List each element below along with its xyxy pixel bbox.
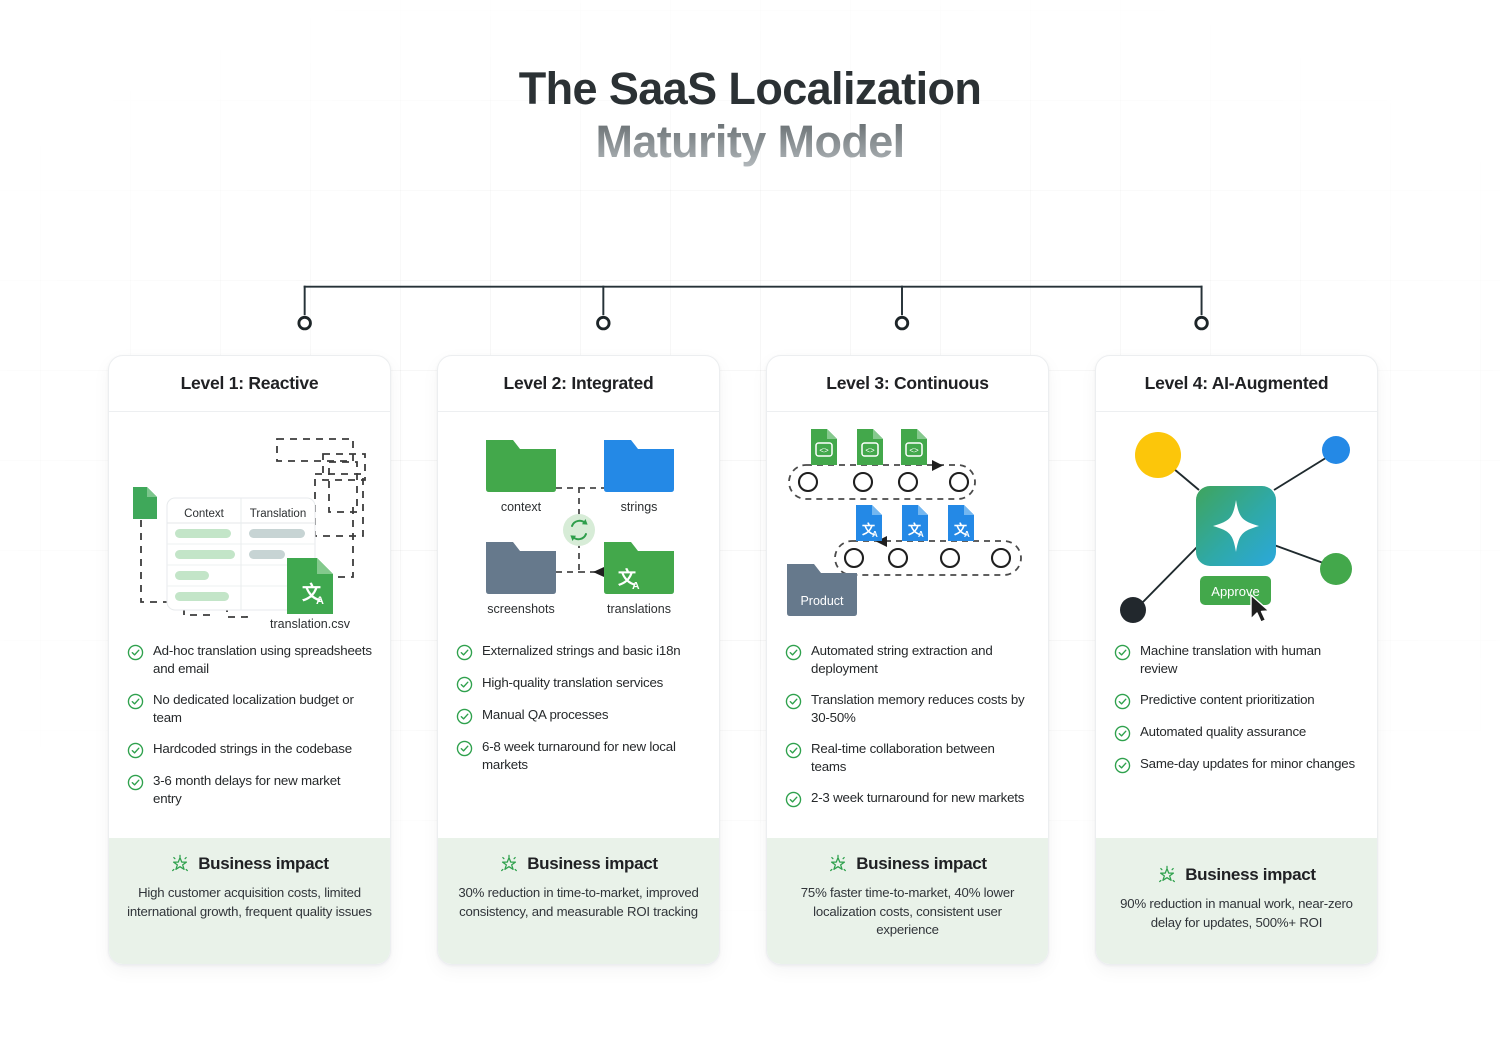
check-circle-icon [1114, 725, 1131, 742]
check-circle-icon [456, 740, 473, 757]
check-circle-icon [1114, 757, 1131, 774]
sync-icon [563, 514, 595, 546]
list-item-label: Automated string extraction and deployme… [811, 642, 1030, 678]
list-item-label: Predictive content prioritization [1140, 691, 1314, 709]
svg-text:Translation: Translation [250, 508, 306, 520]
card-level-2-bullets: Externalized strings and basic i18n High… [438, 638, 719, 838]
list-item: Same-day updates for minor changes [1114, 755, 1359, 774]
list-item-label: Machine translation with human review [1140, 642, 1359, 678]
translation-csv-file-icon: 文 A [287, 558, 333, 614]
svg-text:A: A [872, 530, 878, 539]
card-level-4-bullets: Machine translation with human review Pr… [1096, 638, 1377, 838]
business-impact-body: 30% reduction in time-to-market, improve… [454, 884, 703, 921]
page-title-line-1: The SaaS Localization [0, 62, 1500, 115]
card-level-4[interactable]: Level 4: AI-Augmented [1095, 355, 1378, 965]
list-item: No dedicated localization budget or team [127, 691, 372, 727]
folder-context-label: context [501, 500, 542, 514]
code-file-icons: <> <> <> [811, 429, 927, 465]
list-item: 6-8 week turnaround for new local market… [456, 738, 701, 774]
check-circle-icon [785, 742, 802, 759]
card-level-3[interactable]: Level 3: Continuous [766, 355, 1049, 965]
list-item: Manual QA processes [456, 706, 701, 725]
list-item-label: Hardcoded strings in the codebase [153, 740, 352, 758]
conveyor-pipeline-illustration: <> <> <> [767, 412, 1048, 638]
list-item-label: High-quality translation services [482, 674, 663, 692]
maturity-level-cards: Level 1: Reactive [108, 355, 1398, 965]
business-impact-body: 90% reduction in manual work, near-zero … [1112, 895, 1361, 932]
list-item-label: Translation memory reduces costs by 30-5… [811, 691, 1030, 727]
card-level-1-heading: Level 1: Reactive [109, 356, 390, 412]
list-item: Predictive content prioritization [1114, 691, 1359, 710]
check-circle-icon [1114, 693, 1131, 710]
check-circle-icon [785, 644, 802, 661]
node-green [1320, 553, 1352, 585]
check-circle-icon [127, 774, 144, 791]
timeline-node-3 [896, 317, 908, 329]
folders-sync-illustration: context strings screenshots 文 A [438, 412, 719, 638]
page-title: The SaaS Localization Maturity Model [0, 62, 1500, 168]
list-item-label: 6-8 week turnaround for new local market… [482, 738, 701, 774]
list-item: Hardcoded strings in the codebase [127, 740, 372, 759]
check-circle-icon [127, 693, 144, 710]
ai-sparkle-core-icon [1196, 486, 1276, 566]
node-yellow [1135, 432, 1181, 478]
list-item: Ad-hoc translation using spreadsheets an… [127, 642, 372, 678]
business-impact-body: 75% faster time-to-market, 40% lower loc… [783, 884, 1032, 940]
check-circle-icon [127, 644, 144, 661]
source-file-icon [133, 487, 157, 519]
business-impact-title: Business impact [1185, 865, 1316, 885]
check-circle-icon [127, 742, 144, 759]
list-item: Machine translation with human review [1114, 642, 1359, 678]
folder-translations-label: translations [607, 602, 671, 616]
folder-strings-icon [604, 440, 674, 492]
timeline-node-2 [598, 317, 610, 329]
card-level-2-heading: Level 2: Integrated [438, 356, 719, 412]
card-level-1-bullets: Ad-hoc translation using spreadsheets an… [109, 638, 390, 838]
svg-text:A: A [632, 580, 640, 592]
folder-product-icon: Product [787, 564, 857, 616]
svg-text:A: A [964, 530, 970, 539]
folder-strings-label: strings [621, 500, 658, 514]
folder-translations-icon: 文 A [604, 542, 674, 594]
check-circle-icon [785, 693, 802, 710]
timeline-connector [0, 268, 1500, 348]
business-impact-title: Business impact [856, 854, 987, 874]
business-impact-title: Business impact [527, 854, 658, 874]
folder-screenshots-icon [486, 542, 556, 594]
translation-csv-label: translation.csv [270, 617, 351, 631]
card-level-3-heading: Level 3: Continuous [767, 356, 1048, 412]
check-circle-icon [785, 791, 802, 808]
folder-product-label: Product [800, 594, 844, 608]
list-item-label: Ad-hoc translation using spreadsheets an… [153, 642, 372, 678]
timeline-node-1 [299, 317, 311, 329]
sparkle-star-icon [499, 854, 519, 874]
timeline-node-4 [1196, 317, 1208, 329]
list-item: Externalized strings and basic i18n [456, 642, 701, 661]
list-item-label: Manual QA processes [482, 706, 608, 724]
list-item-label: No dedicated localization budget or team [153, 691, 372, 727]
svg-text:<>: <> [819, 446, 829, 455]
list-item-label: Automated quality assurance [1140, 723, 1306, 741]
card-level-1[interactable]: Level 1: Reactive [108, 355, 391, 965]
list-item-label: 3-6 month delays for new market entry [153, 772, 372, 808]
svg-text:A: A [316, 595, 324, 607]
card-level-3-business-impact: Business impact 75% faster time-to-marke… [767, 838, 1048, 964]
conveyor-belt-top [789, 460, 975, 499]
list-item: 3-6 month delays for new market entry [127, 772, 372, 808]
node-blue [1322, 436, 1350, 464]
svg-text:Context: Context [184, 508, 224, 520]
list-item: Translation memory reduces costs by 30-5… [785, 691, 1030, 727]
check-circle-icon [456, 644, 473, 661]
approve-button: Approve [1200, 576, 1271, 605]
list-item: Automated quality assurance [1114, 723, 1359, 742]
card-level-2-business-impact: Business impact 30% reduction in time-to… [438, 838, 719, 964]
list-item: Real-time collaboration between teams [785, 740, 1030, 776]
card-level-4-business-impact: Business impact 90% reduction in manual … [1096, 838, 1377, 964]
check-circle-icon [456, 708, 473, 725]
list-item: 2-3 week turnaround for new markets [785, 789, 1030, 808]
node-dark [1120, 597, 1146, 623]
business-impact-title: Business impact [198, 854, 329, 874]
spreadsheet-to-csv-illustration: Context Translation [109, 412, 390, 638]
folder-context-icon [486, 440, 556, 492]
sparkle-star-icon [170, 854, 190, 874]
business-impact-body: High customer acquisition costs, limited… [125, 884, 374, 921]
card-level-1-business-impact: Business impact High customer acquisitio… [109, 838, 390, 964]
list-item: High-quality translation services [456, 674, 701, 693]
list-item-label: Same-day updates for minor changes [1140, 755, 1355, 773]
card-level-3-bullets: Automated string extraction and deployme… [767, 638, 1048, 838]
svg-text:<>: <> [865, 446, 875, 455]
translation-file-icons: 文 A 文 A 文 A [856, 505, 974, 541]
conveyor-belt-bottom [835, 536, 1021, 575]
sparkle-star-icon [1157, 865, 1177, 885]
svg-text:A: A [918, 530, 924, 539]
card-level-4-heading: Level 4: AI-Augmented [1096, 356, 1377, 412]
list-item-label: 2-3 week turnaround for new markets [811, 789, 1024, 807]
page-title-line-2: Maturity Model [0, 115, 1500, 168]
folder-screenshots-label: screenshots [487, 602, 554, 616]
list-item-label: Real-time collaboration between teams [811, 740, 1030, 776]
check-circle-icon [1114, 644, 1131, 661]
list-item: Automated string extraction and deployme… [785, 642, 1030, 678]
card-level-2[interactable]: Level 2: Integrated context [437, 355, 720, 965]
list-item-label: Externalized strings and basic i18n [482, 642, 680, 660]
check-circle-icon [456, 676, 473, 693]
ai-hub-illustration: Approve [1096, 412, 1377, 638]
sparkle-star-icon [828, 854, 848, 874]
svg-text:<>: <> [909, 446, 919, 455]
